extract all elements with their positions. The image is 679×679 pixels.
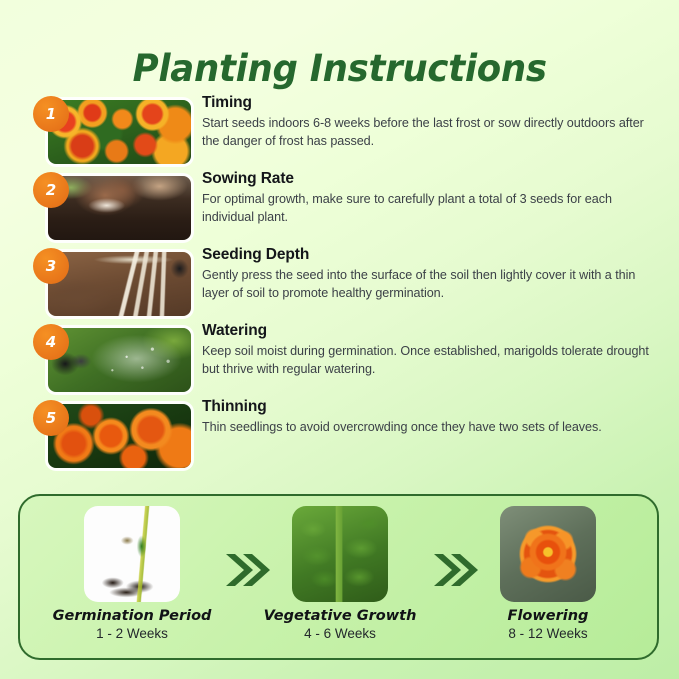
step-description: Keep soil moist during germination. Once… (202, 343, 664, 379)
step-number-badge: 4 (33, 324, 69, 360)
step-text-block: Timing Start seeds indoors 6-8 weeks bef… (202, 94, 664, 151)
stage-thumbnail (84, 506, 180, 602)
step-title: Seeding Depth (202, 246, 664, 264)
step-text-block: Seeding Depth Gently press the seed into… (202, 246, 664, 303)
step-image-seeding-depth (48, 252, 191, 316)
step-text-block: Watering Keep soil moist during germinat… (202, 322, 664, 379)
step-number-badge: 5 (33, 400, 69, 436)
step-item: 5 Thinning Thin seedlings to avoid overc… (0, 400, 679, 472)
step-title: Timing (202, 94, 664, 112)
step-image-watering (48, 328, 191, 392)
stage-thumbnail (292, 506, 388, 602)
marigold-flower-bed-photo (48, 100, 191, 164)
step-number-badge: 1 (33, 96, 69, 132)
step-description: Gently press the seed into the surface o… (202, 267, 664, 303)
timeline-stage-germination: Germination Period 1 - 2 Weeks (42, 506, 222, 641)
planting-steps-list: 1 Timing Start seeds indoors 6-8 weeks b… (0, 96, 679, 476)
step-image-timing (48, 100, 191, 164)
hose-spraying-water-photo (48, 328, 191, 392)
step-number-badge: 3 (33, 248, 69, 284)
stage-duration: 8 - 12 Weeks (458, 626, 638, 641)
step-description: For optimal growth, make sure to careful… (202, 191, 664, 227)
stage-duration: 1 - 2 Weeks (42, 626, 222, 641)
step-title: Watering (202, 322, 664, 340)
timeline-row: Germination Period 1 - 2 Weeks Vegetativ… (20, 496, 657, 658)
stage-duration: 4 - 6 Weeks (250, 626, 430, 641)
marigold-bloom-photo (500, 506, 596, 602)
timeline-stage-vegetative: Vegetative Growth 4 - 6 Weeks (250, 506, 430, 641)
stage-name: Flowering (458, 608, 638, 624)
stage-name: Vegetative Growth (250, 608, 430, 624)
growth-timeline-panel: Germination Period 1 - 2 Weeks Vegetativ… (18, 494, 659, 660)
page-title: Planting Instructions (132, 47, 546, 90)
step-image-sowing-rate (48, 176, 191, 240)
step-text-block: Sowing Rate For optimal growth, make sur… (202, 170, 664, 227)
step-title: Sowing Rate (202, 170, 664, 188)
step-item: 1 Timing Start seeds indoors 6-8 weeks b… (0, 96, 679, 168)
garden-rake-on-soil-photo (48, 252, 191, 316)
step-item: 4 Watering Keep soil moist during germin… (0, 324, 679, 396)
step-description: Start seeds indoors 6-8 weeks before the… (202, 115, 664, 151)
step-item: 3 Seeding Depth Gently press the seed in… (0, 248, 679, 320)
step-description: Thin seedlings to avoid overcrowding onc… (202, 419, 664, 437)
timeline-stage-flowering: Flowering 8 - 12 Weeks (458, 506, 638, 641)
step-image-thinning (48, 404, 191, 468)
step-title: Thinning (202, 398, 664, 416)
step-text-block: Thinning Thin seedlings to avoid overcro… (202, 398, 664, 437)
orange-marigold-closeup-photo (48, 404, 191, 468)
step-number-badge: 2 (33, 172, 69, 208)
stage-thumbnail (500, 506, 596, 602)
hand-sowing-seed-in-soil-photo (48, 176, 191, 240)
step-item: 2 Sowing Rate For optimal growth, make s… (0, 172, 679, 244)
stage-name: Germination Period (42, 608, 222, 624)
sprouting-seed-photo (84, 506, 180, 602)
green-leafy-plant-photo (292, 506, 388, 602)
